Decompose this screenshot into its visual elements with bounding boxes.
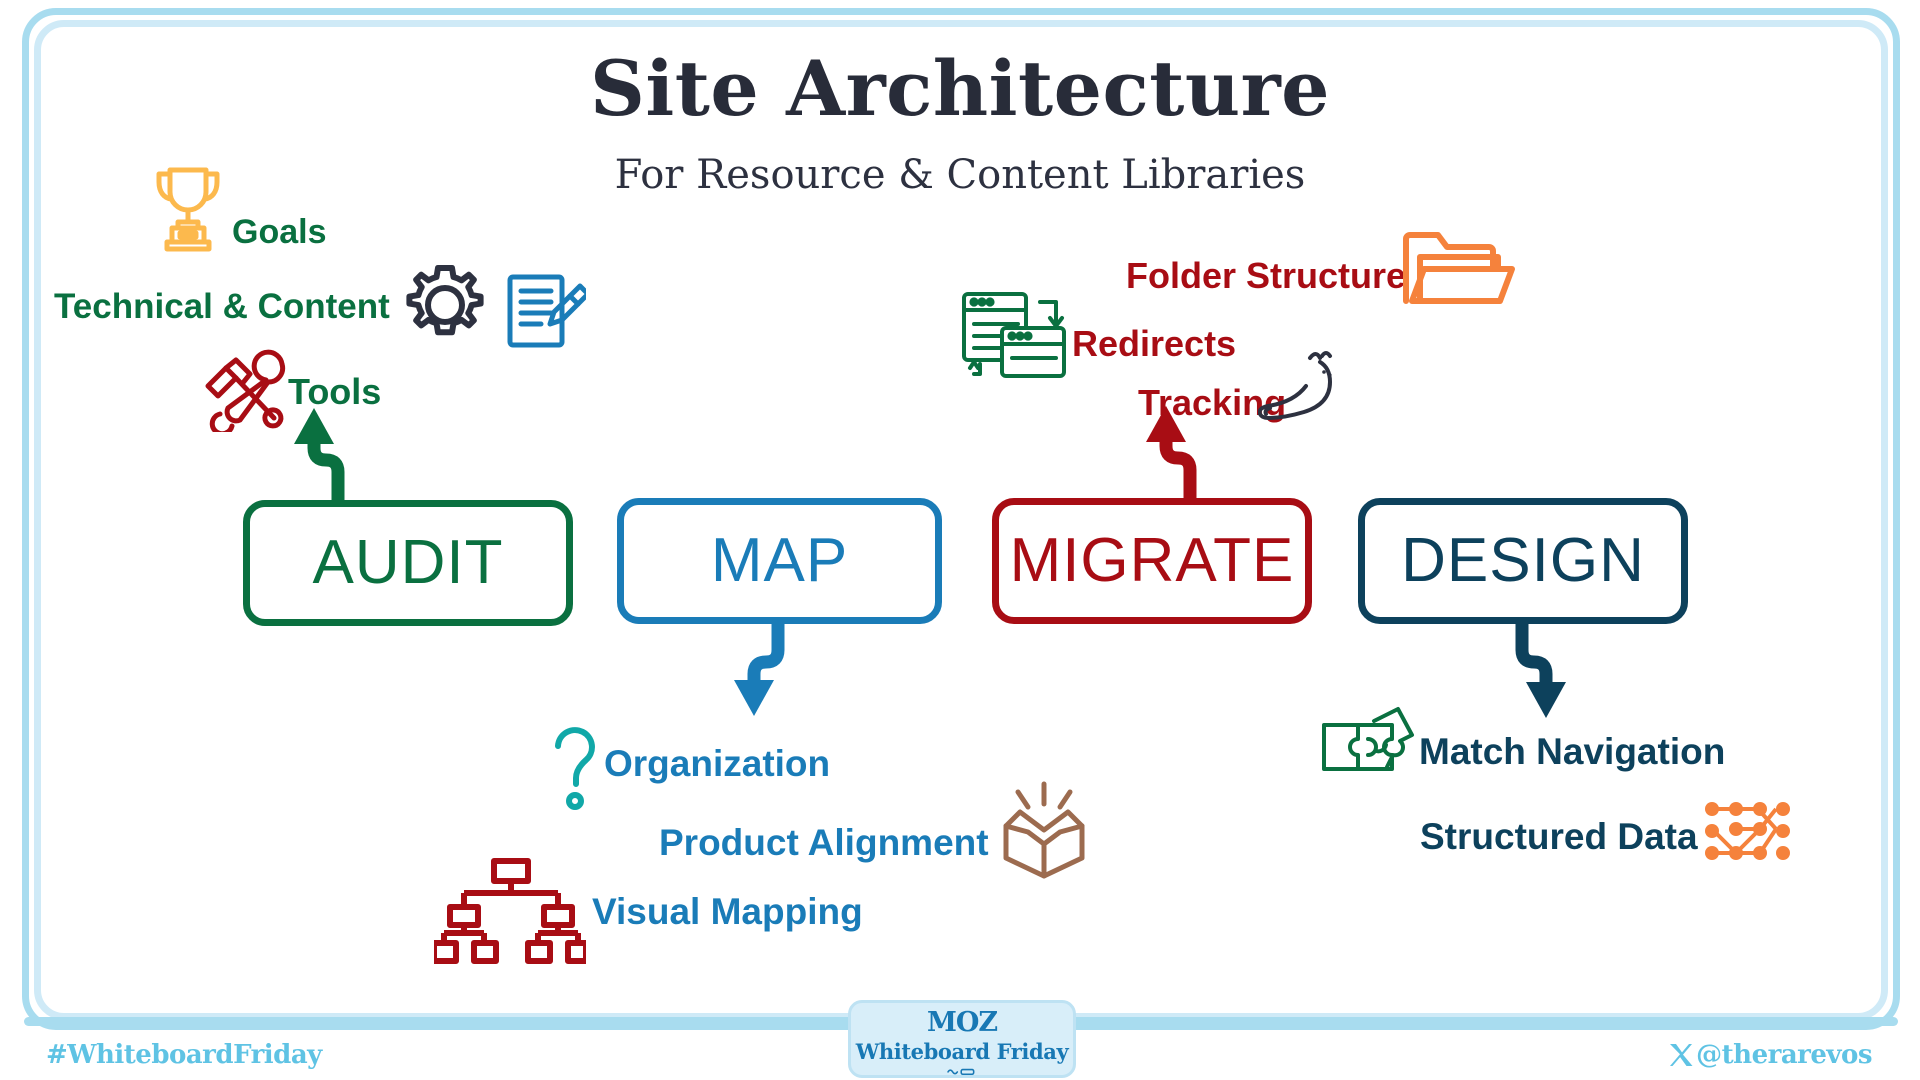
stage-label-map: MAP	[711, 530, 848, 592]
footer-handle: @therarevos	[1696, 1040, 1872, 1070]
stage-box-migrate[interactable]: MIGRATE	[992, 498, 1312, 624]
sitemap-icon	[434, 857, 586, 967]
page-title: Site Architecture	[0, 44, 1920, 133]
page-subtitle: For Resource & Content Libraries	[0, 152, 1920, 198]
moz-series-text: Whiteboard Friday	[856, 1041, 1069, 1062]
open-box-icon	[996, 780, 1092, 880]
stage-box-design[interactable]: DESIGN	[1358, 498, 1688, 624]
gear-icon	[398, 258, 492, 352]
folder-icon	[1398, 227, 1520, 311]
stage-box-map[interactable]: MAP	[617, 498, 942, 624]
trophy-icon	[148, 162, 228, 254]
footer-hashtag: #WhiteboardFriday	[46, 1040, 322, 1070]
annotation-product-alignment: Product Alignment	[659, 824, 989, 861]
annotation-visual-mapping: Visual Mapping	[592, 893, 863, 930]
footer-handle-group: @therarevos	[1668, 1040, 1872, 1070]
annotation-organization: Organization	[604, 745, 830, 782]
notepad-pencil-icon	[504, 272, 586, 352]
annotation-redirects: Redirects	[1072, 326, 1236, 362]
browser-windows-icon	[958, 288, 1070, 380]
stage-label-design: DESIGN	[1401, 530, 1645, 592]
whiteboard-canvas: Site Architecture For Resource & Content…	[0, 0, 1920, 1080]
moz-marker-icon	[920, 1068, 1004, 1075]
stage-label-migrate: MIGRATE	[1010, 530, 1295, 592]
stage-box-audit[interactable]: AUDIT	[243, 500, 573, 626]
hammer-wrench-icon	[198, 348, 290, 432]
moz-logo-text: MOZ	[927, 1009, 997, 1036]
annotation-technical-content: Technical & Content	[54, 289, 390, 324]
annotation-folder-structure: Folder Structure	[1126, 258, 1406, 294]
annotation-match-navigation: Match Navigation	[1419, 733, 1725, 770]
node-graph-icon	[1698, 795, 1794, 871]
annotation-goals: Goals	[232, 215, 326, 249]
x-twitter-icon	[1668, 1042, 1694, 1068]
stage-label-audit: AUDIT	[313, 532, 504, 594]
question-mark-icon	[548, 722, 606, 812]
annotation-tools: Tools	[288, 374, 381, 410]
slug-icon	[1258, 348, 1362, 434]
puzzle-pieces-icon	[1318, 705, 1426, 810]
moz-whiteboard-friday-badge[interactable]: MOZ Whiteboard Friday	[848, 1000, 1076, 1078]
annotation-structured-data: Structured Data	[1420, 818, 1698, 855]
